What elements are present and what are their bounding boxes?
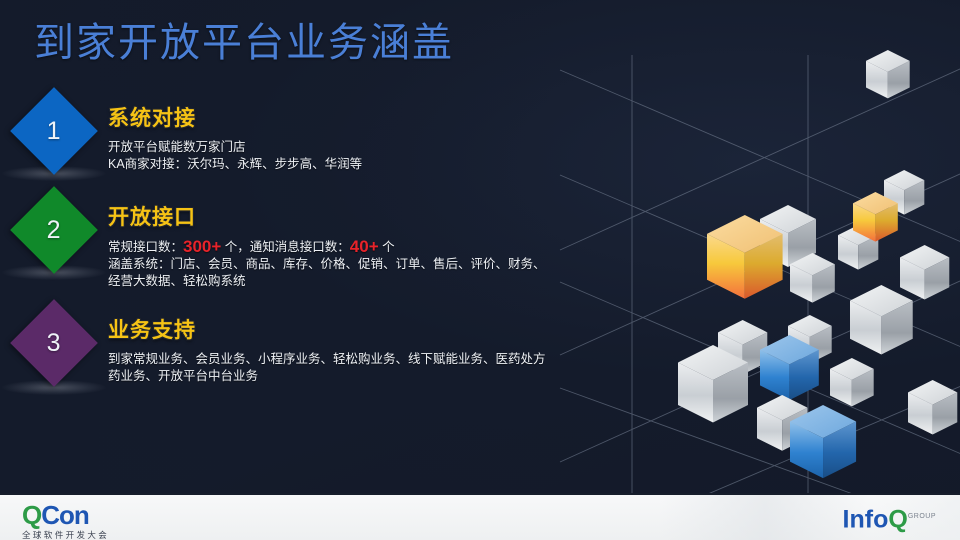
badge-number-3: 3 bbox=[47, 329, 61, 358]
diamond-badge-3: 3 bbox=[10, 299, 98, 387]
diamond-badge-2: 2 bbox=[10, 186, 98, 274]
block-text-1: 系统对接 开放平台赋能数万家门店 KA商家对接：沃尔玛、永辉、步步高、华润等 bbox=[108, 100, 362, 173]
block-text-3: 业务支持 到家常规业务、会员业务、小程序业务、轻松购业务、线下赋能业务、医药处方… bbox=[108, 312, 546, 385]
content-block-1: 1 系统对接 开放平台赋能数万家门店 KA商家对接：沃尔玛、永辉、步步高、华润等 bbox=[0, 100, 640, 173]
qcon-letters-con: Con bbox=[41, 500, 89, 530]
diamond-badge-1: 1 bbox=[10, 87, 98, 175]
block-3-line-1: 到家常规业务、会员业务、小程序业务、轻松购业务、线下赋能业务、医药处方 bbox=[108, 351, 546, 368]
content-block-3: 3 业务支持 到家常规业务、会员业务、小程序业务、轻松购业务、线下赋能业务、医药… bbox=[0, 312, 640, 385]
content-blocks: 1 系统对接 开放平台赋能数万家门店 KA商家对接：沃尔玛、永辉、步步高、华润等… bbox=[0, 100, 640, 391]
api-count-notify: 40+ bbox=[350, 237, 379, 256]
block-1-line-2: KA商家对接：沃尔玛、永辉、步步高、华润等 bbox=[108, 156, 362, 173]
badge-number-2: 2 bbox=[47, 216, 61, 245]
block-heading-1: 系统对接 bbox=[108, 102, 362, 132]
api-count-regular: 300+ bbox=[183, 237, 221, 256]
qcon-letter-q: Q bbox=[22, 500, 41, 530]
block-2-line-1: 常规接口数：300+ 个，通知消息接口数：40+ 个 bbox=[108, 238, 546, 256]
slide-canvas: 到家开放平台业务涵盖 1 系统对接 开放平台赋能数万家门店 KA商家对接：沃尔玛… bbox=[0, 0, 960, 540]
api-count-mid: 个，通知消息接口数： bbox=[221, 240, 349, 254]
qcon-logo: QCon 全球软件开发大会 bbox=[22, 502, 109, 540]
block-2-line-3: 经营大数据、轻松购系统 bbox=[108, 273, 546, 290]
qcon-wordmark: QCon bbox=[22, 502, 109, 528]
page-title: 到家开放平台业务涵盖 bbox=[34, 10, 454, 68]
infoq-letters-info: Info bbox=[843, 505, 889, 533]
content-block-2: 2 开放接口 常规接口数：300+ 个，通知消息接口数：40+ 个 涵盖系统：门… bbox=[0, 199, 640, 290]
block-text-2: 开放接口 常规接口数：300+ 个，通知消息接口数：40+ 个 涵盖系统：门店、… bbox=[108, 199, 546, 290]
api-count-suffix: 个 bbox=[379, 240, 395, 254]
badge-number-1: 1 bbox=[47, 117, 61, 146]
qcon-subtitle: 全球软件开发大会 bbox=[22, 529, 109, 540]
block-1-line-1: 开放平台赋能数万家门店 bbox=[108, 139, 362, 156]
block-3-line-2: 药业务、开放平台中台业务 bbox=[108, 368, 546, 385]
block-2-line-2: 涵盖系统：门店、会员、商品、库存、价格、促销、订单、售后、评价、财务、 bbox=[108, 256, 546, 273]
infoq-logo: InfoQGROUP bbox=[843, 504, 936, 532]
badge-wrap-1: 1 bbox=[0, 100, 108, 162]
badge-wrap-3: 3 bbox=[0, 312, 108, 374]
block-heading-2: 开放接口 bbox=[108, 201, 546, 231]
api-count-prefix: 常规接口数： bbox=[108, 240, 183, 254]
infoq-group-mark: GROUP bbox=[908, 513, 936, 520]
infoq-letter-q: Q bbox=[888, 505, 907, 533]
block-heading-3: 业务支持 bbox=[108, 314, 546, 344]
badge-wrap-2: 2 bbox=[0, 199, 108, 261]
footer-bar: QCon 全球软件开发大会 InfoQGROUP bbox=[0, 493, 960, 540]
